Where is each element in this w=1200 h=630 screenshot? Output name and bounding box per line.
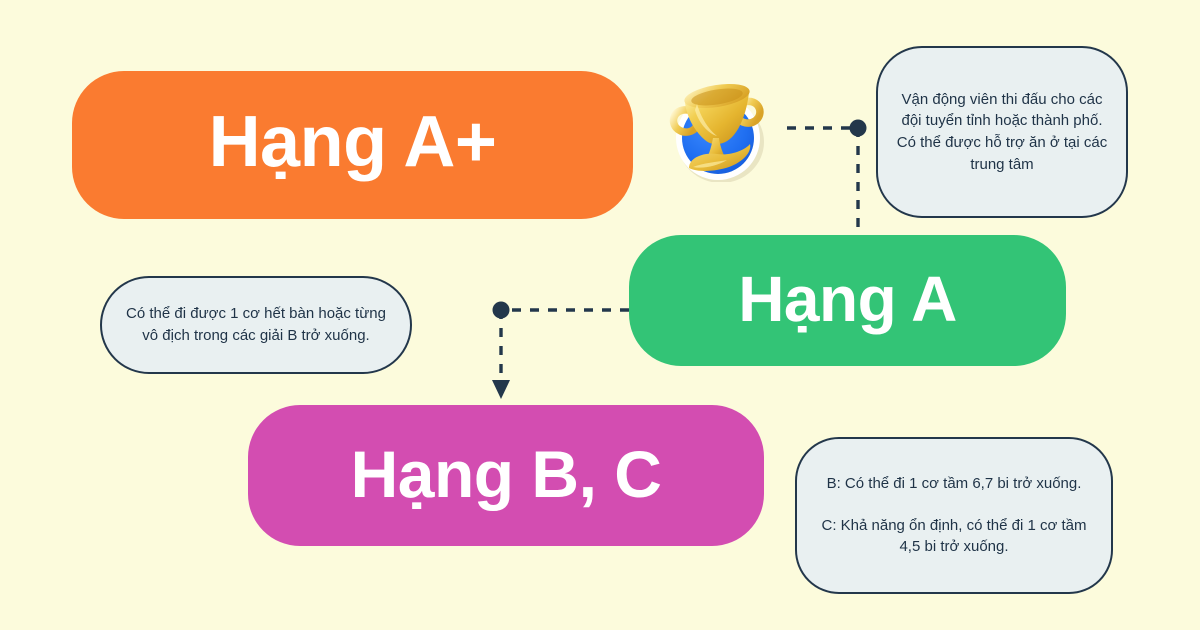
connector-rank-a-to-rank-bc [501, 310, 629, 382]
callout-rank-b-c-description: B: Có thể đi 1 cơ tầm 6,7 bi trở xuống. … [795, 437, 1113, 594]
infographic-canvas: Hạng A+ Hạng A Hạng B, C [0, 0, 1200, 630]
connector-arrowhead [492, 380, 510, 399]
trophy-icon [655, 68, 779, 182]
connector-dot-mid [493, 302, 510, 319]
rank-block-b-c[interactable]: Hạng B, C [248, 405, 764, 546]
rank-label-b-c: Hạng B, C [351, 441, 662, 507]
rank-block-a-plus[interactable]: Hạng A+ [72, 71, 633, 219]
rank-block-a[interactable]: Hạng A [629, 235, 1066, 366]
rank-label-a-plus: Hạng A+ [209, 106, 497, 178]
connector-dot-top [850, 120, 867, 137]
callout-text: Có thể đi được 1 cơ hết bàn hoặc từng vô… [124, 303, 388, 347]
callout-rank-a-description: Vận động viên thi đấu cho các đội tuyển … [876, 46, 1128, 218]
callout-text-rank-b: B: Có thể đi 1 cơ tầm 6,7 bi trở xuống. [827, 473, 1082, 495]
rank-label-a: Hạng A [738, 267, 957, 331]
callout-text-rank-c: C: Khả năng ổn định, có thể đi 1 cơ tầm … [815, 515, 1093, 559]
connector-trophy-to-rank-a [787, 128, 858, 236]
callout-text: Vận động viên thi đấu cho các đội tuyển … [894, 89, 1110, 176]
callout-rank-a-plus-description: Có thể đi được 1 cơ hết bàn hoặc từng vô… [100, 276, 412, 374]
